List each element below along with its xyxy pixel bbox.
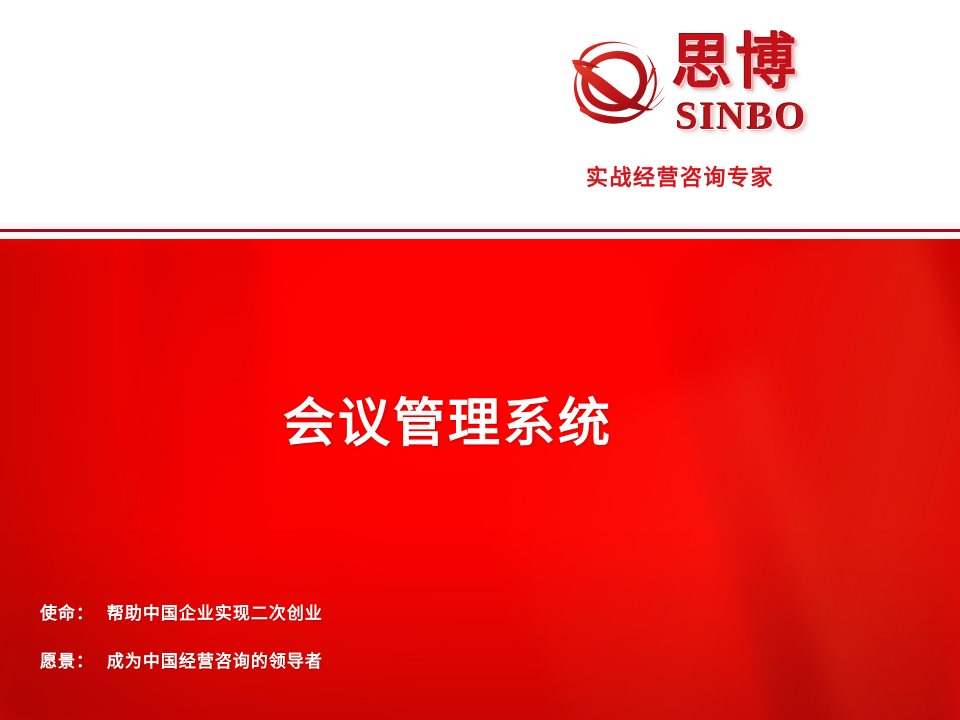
background-streak-dark-right [642,239,960,720]
slide-body: 会议管理系统 使命： 帮助中国企业实现二次创业 愿景： 成为中国经营咨询的领导者 [0,239,960,720]
mission-text: 帮助中国企业实现二次创业 [107,604,323,624]
background-streak-light-right [695,239,960,720]
brand-tagline: 实战经营咨询专家 [586,160,774,192]
page-title-text: 会议管理系统 [283,381,613,456]
sinbo-phoenix-circle-icon [560,32,672,138]
presentation-slide: 思博 SINBO 实战经营咨询专家 会议管理系统 使命： 帮助中国企业实现二次创… [0,0,960,720]
statements-block: 使命： 帮助中国企业实现二次创业 愿景： 成为中国经营咨询的领导者 [40,604,323,672]
slide-header: 思博 SINBO 实战经营咨询专家 [0,0,960,228]
vision-text: 成为中国经营咨询的领导者 [107,652,323,672]
brand-block: 思博 SINBO 实战经营咨询专家 [560,32,848,196]
page-title: 会议管理系统 [0,381,960,456]
mission-label: 使命： [40,604,94,624]
vision-statement: 愿景： 成为中国经营咨询的领导者 [40,652,323,672]
logo-english-name: SINBO [676,96,807,138]
vision-label: 愿景： [40,652,94,672]
divider-gap [0,232,960,239]
logo-chinese-name: 思博 [672,30,800,96]
logo-row: 思博 SINBO [560,32,848,144]
mission-statement: 使命： 帮助中国企业实现二次创业 [40,604,323,624]
